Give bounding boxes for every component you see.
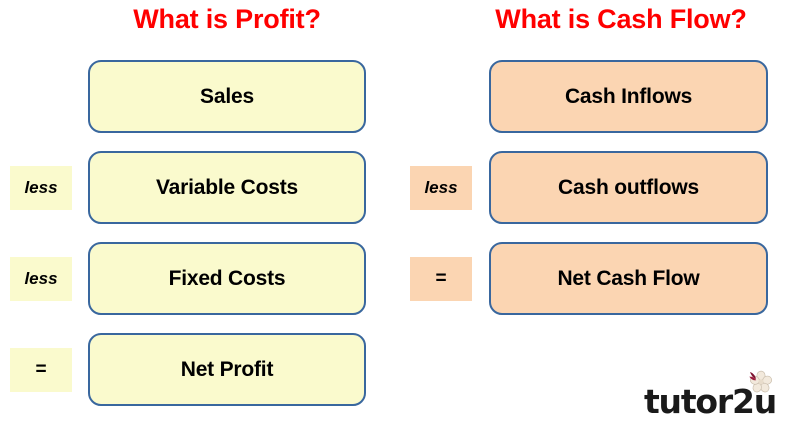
cashflow-box-cash-inflows-label: Cash Inflows [565,85,692,109]
cashflow-column-title: What is Cash Flow? [456,4,786,35]
cashflow-operator-less-label: less [424,178,457,198]
cashflow-box-cash-outflows-label: Cash outflows [558,176,699,200]
profit-operator-less-2: less [10,257,72,301]
profit-operator-less-2-label: less [24,269,57,289]
profit-operator-equals: = [10,348,72,392]
slide-canvas: What is Profit? Sales less Variable Cost… [0,0,800,428]
cashflow-operator-equals: = [410,257,472,301]
profit-box-variable-costs[interactable]: Variable Costs [88,151,366,224]
profit-column-title: What is Profit? [88,4,366,35]
profit-box-net-profit[interactable]: Net Profit [88,333,366,406]
tutor2u-wordmark: tutor2u [644,385,776,418]
profit-operator-equals-label: = [35,359,46,381]
cashflow-box-cash-inflows[interactable]: Cash Inflows [489,60,768,133]
cashflow-operator-equals-label: = [435,268,446,290]
profit-box-sales[interactable]: Sales [88,60,366,133]
profit-operator-less-1: less [10,166,72,210]
cashflow-box-cash-outflows[interactable]: Cash outflows [489,151,768,224]
profit-box-sales-label: Sales [200,85,254,109]
cashflow-box-net-cash-flow[interactable]: Net Cash Flow [489,242,768,315]
profit-operator-less-1-label: less [24,178,57,198]
cashflow-box-net-cash-flow-label: Net Cash Flow [557,267,699,291]
cashflow-operator-less: less [410,166,472,210]
profit-box-variable-costs-label: Variable Costs [156,176,298,200]
profit-box-fixed-costs-label: Fixed Costs [169,267,286,291]
profit-box-net-profit-label: Net Profit [181,358,274,382]
tutor2u-logo: tutor2u [636,370,776,418]
profit-box-fixed-costs[interactable]: Fixed Costs [88,242,366,315]
